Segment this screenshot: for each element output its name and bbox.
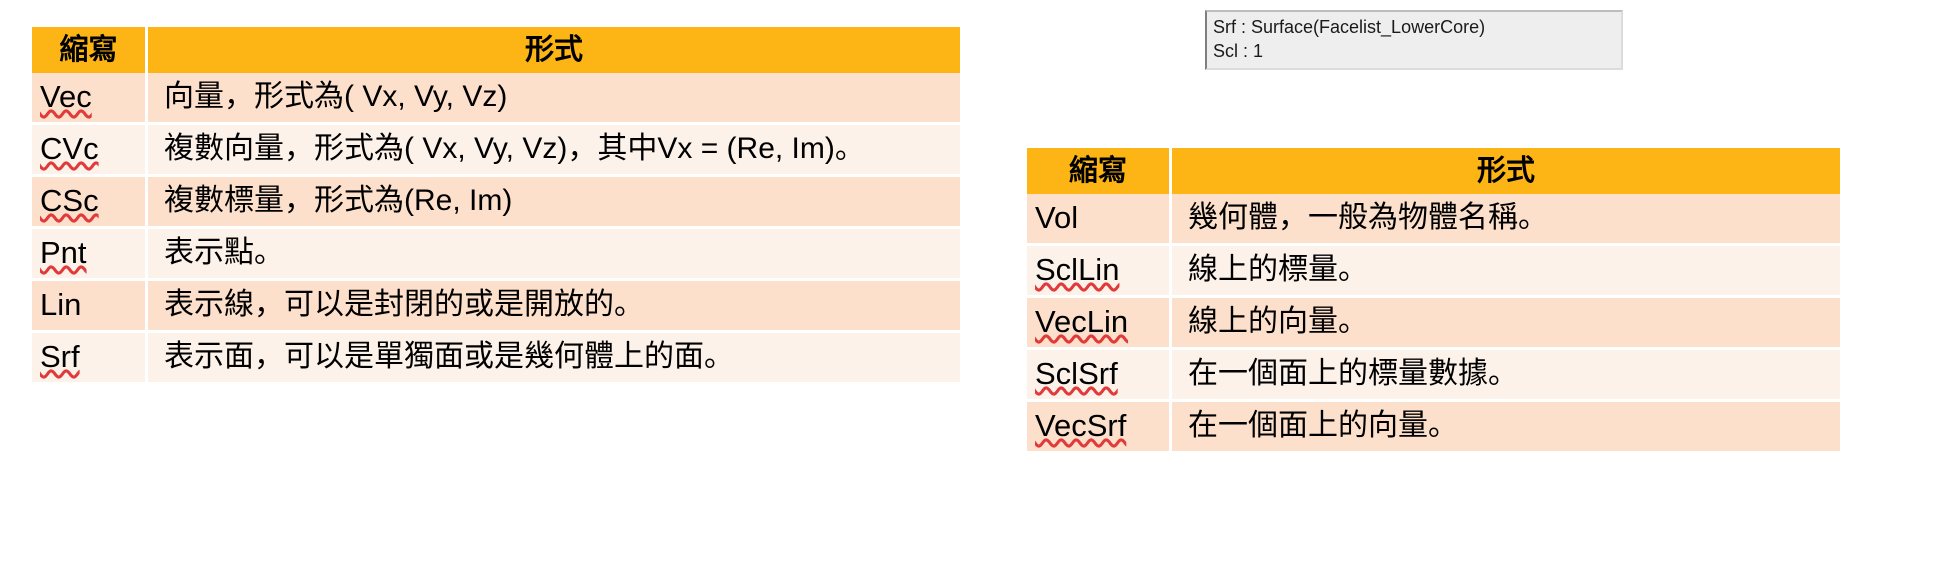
cell-abbreviation: VecSrf	[1027, 402, 1172, 454]
table-row: Srf 表示面，可以是單獨面或是幾何體上的面。	[32, 333, 960, 385]
abbreviation-text: VecSrf	[1035, 408, 1126, 443]
cell-abbreviation: Vol	[1027, 194, 1172, 246]
table-row: Vol 幾何體，一般為物體名稱。	[1027, 194, 1840, 246]
abbreviation-text: Lin	[40, 287, 81, 322]
table-left-body: Vec 向量，形式為( Vx, Vy, Vz) CVc 複數向量，形式為( Vx…	[32, 73, 960, 385]
tooltip-line-scale: Scl : 1	[1213, 39, 1615, 63]
abbreviation-text: SclLin	[1035, 252, 1119, 287]
table-left-header: 縮寫 形式	[32, 27, 960, 73]
cell-form: 複數標量，形式為(Re, Im)	[148, 177, 960, 229]
abbreviation-table-left: 縮寫 形式 Vec 向量，形式為( Vx, Vy, Vz) CVc 複數向量，形…	[32, 27, 960, 385]
table-row: SclSrf 在一個面上的標量數據。	[1027, 350, 1840, 402]
tooltip-line-surface: Srf : Surface(Facelist_LowerCore)	[1213, 15, 1615, 39]
cell-form: 表示點。	[148, 229, 960, 281]
table-row: CVc 複數向量，形式為( Vx, Vy, Vz)，其中Vx = (Re, Im…	[32, 125, 960, 177]
column-header-form: 形式	[148, 27, 960, 73]
column-header-abbreviation: 縮寫	[32, 27, 148, 73]
table-row: Lin 表示線，可以是封閉的或是開放的。	[32, 281, 960, 333]
cell-form: 表示面，可以是單獨面或是幾何體上的面。	[148, 333, 960, 385]
abbreviation-text: Srf	[40, 339, 80, 374]
table-right-header: 縮寫 形式	[1027, 148, 1840, 194]
abbreviation-text: SclSrf	[1035, 356, 1118, 391]
table-row: Vec 向量，形式為( Vx, Vy, Vz)	[32, 73, 960, 125]
table-row: VecLin 線上的向量。	[1027, 298, 1840, 350]
column-header-abbreviation: 縮寫	[1027, 148, 1172, 194]
abbreviation-text: Vec	[40, 79, 92, 114]
cell-form: 線上的標量。	[1172, 246, 1840, 298]
table-header-row: 縮寫 形式	[1027, 148, 1840, 194]
cell-form: 在一個面上的標量數據。	[1172, 350, 1840, 402]
cell-abbreviation: Pnt	[32, 229, 148, 281]
table-row: VecSrf 在一個面上的向量。	[1027, 402, 1840, 454]
cell-abbreviation: SclLin	[1027, 246, 1172, 298]
cell-abbreviation: Vec	[32, 73, 148, 125]
abbreviation-text: CVc	[40, 131, 99, 166]
table-header-row: 縮寫 形式	[32, 27, 960, 73]
cell-form: 在一個面上的向量。	[1172, 402, 1840, 454]
cell-abbreviation: SclSrf	[1027, 350, 1172, 402]
column-header-form: 形式	[1172, 148, 1840, 194]
table-row: CSc 複數標量，形式為(Re, Im)	[32, 177, 960, 229]
abbreviation-text: Pnt	[40, 235, 87, 270]
cell-form: 複數向量，形式為( Vx, Vy, Vz)，其中Vx = (Re, Im)。	[148, 125, 960, 177]
abbreviation-table-right: 縮寫 形式 Vol 幾何體，一般為物體名稱。 SclLin 線上的標量。 Vec…	[1027, 148, 1840, 454]
abbreviation-text: VecLin	[1035, 304, 1128, 339]
cell-form: 線上的向量。	[1172, 298, 1840, 350]
cell-abbreviation: CSc	[32, 177, 148, 229]
cell-abbreviation: VecLin	[1027, 298, 1172, 350]
cell-form: 表示線，可以是封閉的或是開放的。	[148, 281, 960, 333]
table-right-body: Vol 幾何體，一般為物體名稱。 SclLin 線上的標量。 VecLin 線上…	[1027, 194, 1840, 454]
cell-abbreviation: Lin	[32, 281, 148, 333]
table-row: Pnt 表示點。	[32, 229, 960, 281]
object-info-tooltip: Srf : Surface(Facelist_LowerCore) Scl : …	[1205, 10, 1623, 70]
cell-form: 幾何體，一般為物體名稱。	[1172, 194, 1840, 246]
table-row: SclLin 線上的標量。	[1027, 246, 1840, 298]
abbreviation-text: Vol	[1035, 200, 1078, 235]
cell-form: 向量，形式為( Vx, Vy, Vz)	[148, 73, 960, 125]
cell-abbreviation: Srf	[32, 333, 148, 385]
cell-abbreviation: CVc	[32, 125, 148, 177]
abbreviation-text: CSc	[40, 183, 99, 218]
